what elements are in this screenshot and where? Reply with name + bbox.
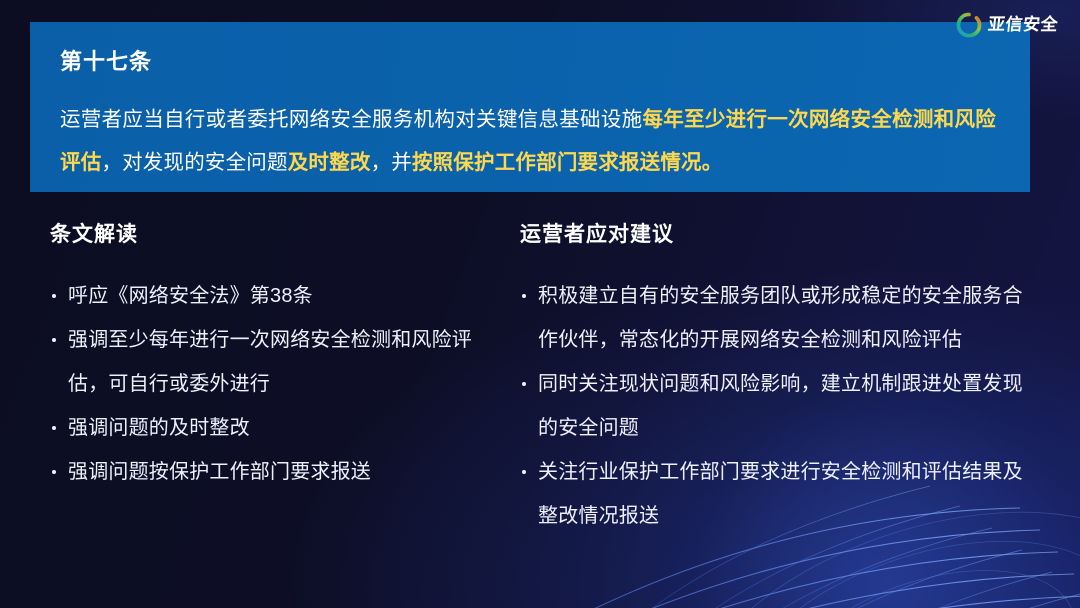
body-text: ，对发现的安全问题 [101, 151, 287, 174]
list-item: 强调问题的及时整改 [50, 406, 495, 450]
list-item: 强调问题按保护工作部门要求报送 [50, 450, 495, 494]
body-text: 运营者应当自行或者委托网络安全服务机构对关键信息基础设施 [60, 108, 642, 131]
article-banner: 第十七条 运营者应当自行或者委托网络安全服务机构对关键信息基础设施每年至少进行一… [30, 22, 1030, 192]
bullet-list-interpretation: 呼应《网络安全法》第38条 强调至少每年进行一次网络安全检测和风险评估，可自行或… [50, 274, 495, 494]
list-item: 同时关注现状问题和风险影响，建立机制跟进处置发现的安全问题 [520, 362, 1035, 450]
ring-logo-icon [956, 12, 982, 38]
article-title: 第十七条 [60, 44, 996, 76]
content-columns: 条文解读 呼应《网络安全法》第38条 强调至少每年进行一次网络安全检测和风险评估… [0, 218, 1080, 538]
slide-canvas: 亚信安全 第十七条 运营者应当自行或者委托网络安全服务机构对关键信息基础设施每年… [0, 0, 1080, 608]
column-interpretation: 条文解读 呼应《网络安全法》第38条 强调至少每年进行一次网络安全检测和风险评估… [0, 218, 505, 538]
highlighted-text: 按照保护工作部门要求报送情况。 [412, 151, 723, 174]
highlighted-text: 及时整改 [288, 151, 371, 174]
article-body: 运营者应当自行或者委托网络安全服务机构对关键信息基础设施每年至少进行一次网络安全… [60, 98, 996, 184]
bullet-list-recommendations: 积极建立自有的安全服务团队或形成稳定的安全服务合作伙伴，常态化的开展网络安全检测… [520, 274, 1035, 538]
list-item: 关注行业保护工作部门要求进行安全检测和评估结果及整改情况报送 [520, 450, 1035, 538]
list-item: 强调至少每年进行一次网络安全检测和风险评估，可自行或委外进行 [50, 318, 495, 406]
list-item: 呼应《网络安全法》第38条 [50, 274, 495, 318]
column-heading: 运营者应对建议 [520, 218, 1035, 248]
list-item: 积极建立自有的安全服务团队或形成稳定的安全服务合作伙伴，常态化的开展网络安全检测… [520, 274, 1035, 362]
column-recommendations: 运营者应对建议 积极建立自有的安全服务团队或形成稳定的安全服务合作伙伴，常态化的… [505, 218, 1065, 538]
body-text: ，并 [371, 151, 412, 174]
brand-logo: 亚信安全 [956, 12, 1058, 38]
brand-logo-text: 亚信安全 [987, 12, 1060, 38]
column-heading: 条文解读 [50, 218, 495, 248]
